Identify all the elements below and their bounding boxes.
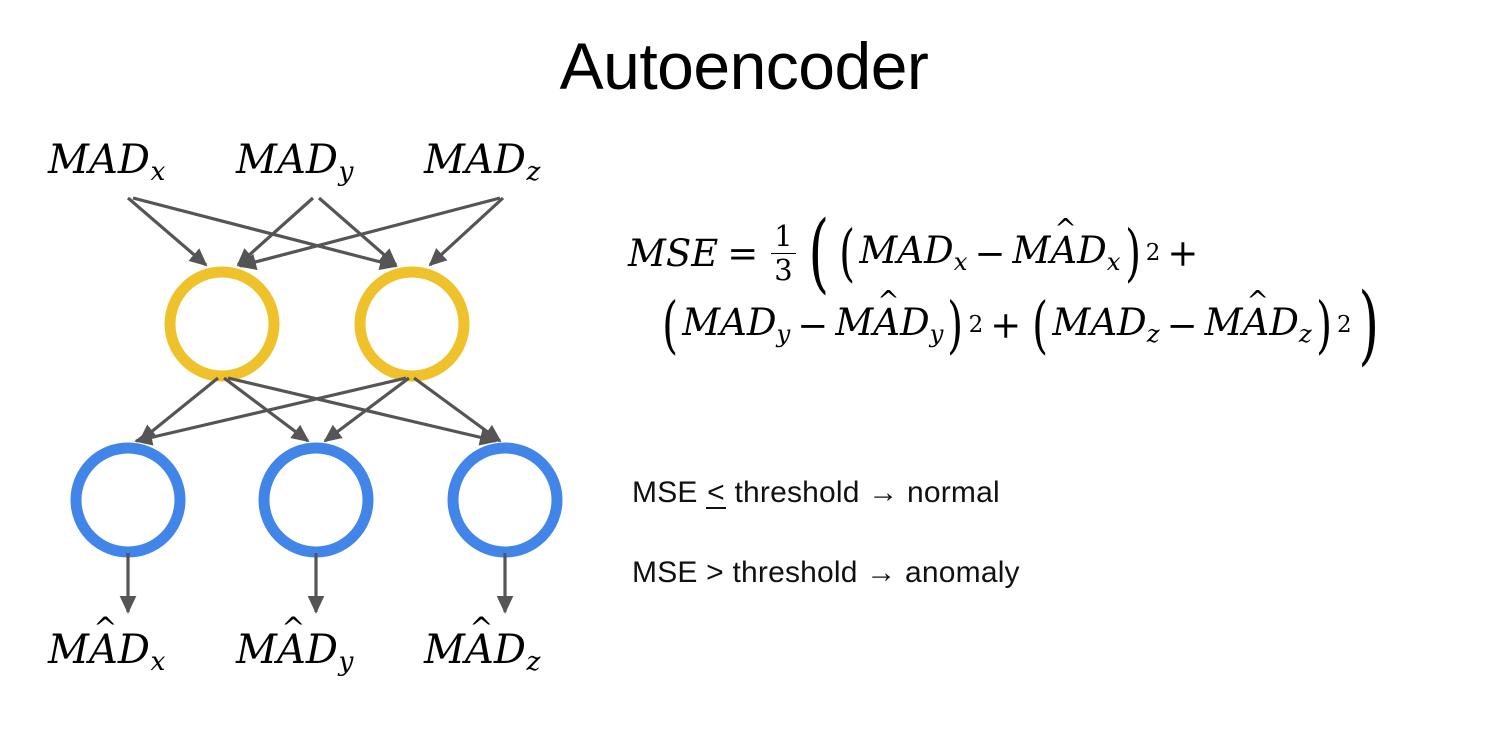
- less-than-or-equal-icon: <: [706, 476, 726, 510]
- term1-exponent: 2: [1146, 242, 1161, 265]
- right-arrow-icon: →: [866, 556, 896, 589]
- formula-line-1: MSE = 1 3 ( ( MADx − M^ADx ) 2 +: [628, 222, 1478, 285]
- normal-rule-metric: MSE: [632, 476, 698, 509]
- equals-sign: =: [727, 235, 758, 272]
- greater-than-icon: >: [706, 556, 724, 589]
- decoder-edges: [136, 378, 500, 441]
- input-label-mad-y: MADy: [236, 140, 353, 186]
- encoder-edges: [128, 198, 503, 266]
- input-label-mad-x: MADx: [48, 140, 165, 186]
- output-arrows: [128, 553, 505, 612]
- output-label-mad-hat-y: M^ADy: [236, 630, 353, 676]
- normal-rule-threshold: threshold: [734, 476, 859, 509]
- term3-prediction: M^ADz: [1205, 304, 1312, 346]
- term1-close-paren: ): [1125, 234, 1141, 272]
- hidden-nodes: [170, 272, 464, 376]
- output-label-mad-hat-z: M^ADz: [424, 630, 540, 676]
- term1-open-paren: (: [839, 234, 855, 272]
- term2-prediction: M^ADy: [835, 304, 943, 346]
- term3-exponent: 2: [1337, 314, 1352, 337]
- edge-in-z-to-h1: [240, 198, 500, 266]
- term2-exponent: 2: [969, 314, 984, 337]
- output-node-y: [264, 448, 368, 552]
- autoencoder-network-diagram: MADx MADy MADz M^ADx M^ADy M^ADz: [0, 0, 640, 752]
- minus-sign-2: −: [797, 307, 828, 344]
- formula-lhs: MSE: [628, 235, 718, 272]
- plus-sign-1: +: [1167, 235, 1198, 272]
- output-node-z: [453, 448, 557, 552]
- edge-in-y-to-h1: [238, 198, 313, 265]
- anomaly-rule-outcome: anomaly: [905, 556, 1020, 589]
- plus-sign-2: +: [990, 307, 1021, 344]
- output-nodes: [76, 448, 557, 552]
- term2-open-paren: (: [662, 306, 678, 344]
- term3-target: MADz: [1052, 304, 1159, 346]
- input-label-mad-z: MADz: [424, 140, 540, 186]
- normal-rule: MSE < threshold → normal: [632, 476, 1000, 510]
- formula-line-2: ( MADy − M^ADy ) 2 + ( MADz − M^ADz ) 2 …: [628, 299, 1478, 352]
- outer-close-paren: ): [1358, 299, 1379, 352]
- one-third-fraction: 1 3: [771, 222, 795, 285]
- output-label-mad-hat-x: M^ADx: [48, 630, 165, 676]
- term3-close-paren: ): [1316, 306, 1332, 344]
- anomaly-rule: MSE > threshold → anomaly: [632, 556, 1020, 590]
- term2-target: MADy: [682, 304, 790, 346]
- normal-rule-outcome: normal: [907, 476, 1000, 509]
- hidden-node-1: [170, 272, 274, 376]
- hidden-node-2: [360, 272, 464, 376]
- right-arrow-icon: →: [868, 476, 898, 509]
- minus-sign-3: −: [1167, 307, 1198, 344]
- term1-prediction: M^ADx: [1012, 232, 1120, 274]
- output-node-x: [76, 448, 180, 552]
- term2-close-paren: ): [948, 306, 964, 344]
- term3-open-paren: (: [1032, 306, 1048, 344]
- slide-canvas: Autoencoder: [0, 0, 1488, 752]
- anomaly-rule-metric: MSE: [632, 556, 698, 589]
- minus-sign-1: −: [974, 235, 1005, 272]
- mse-formula: MSE = 1 3 ( ( MADx − M^ADx ) 2 + ( MADy …: [628, 222, 1478, 352]
- term1-target: MADx: [859, 232, 967, 274]
- outer-open-paren: (: [808, 227, 829, 280]
- anomaly-rule-threshold: threshold: [732, 556, 857, 589]
